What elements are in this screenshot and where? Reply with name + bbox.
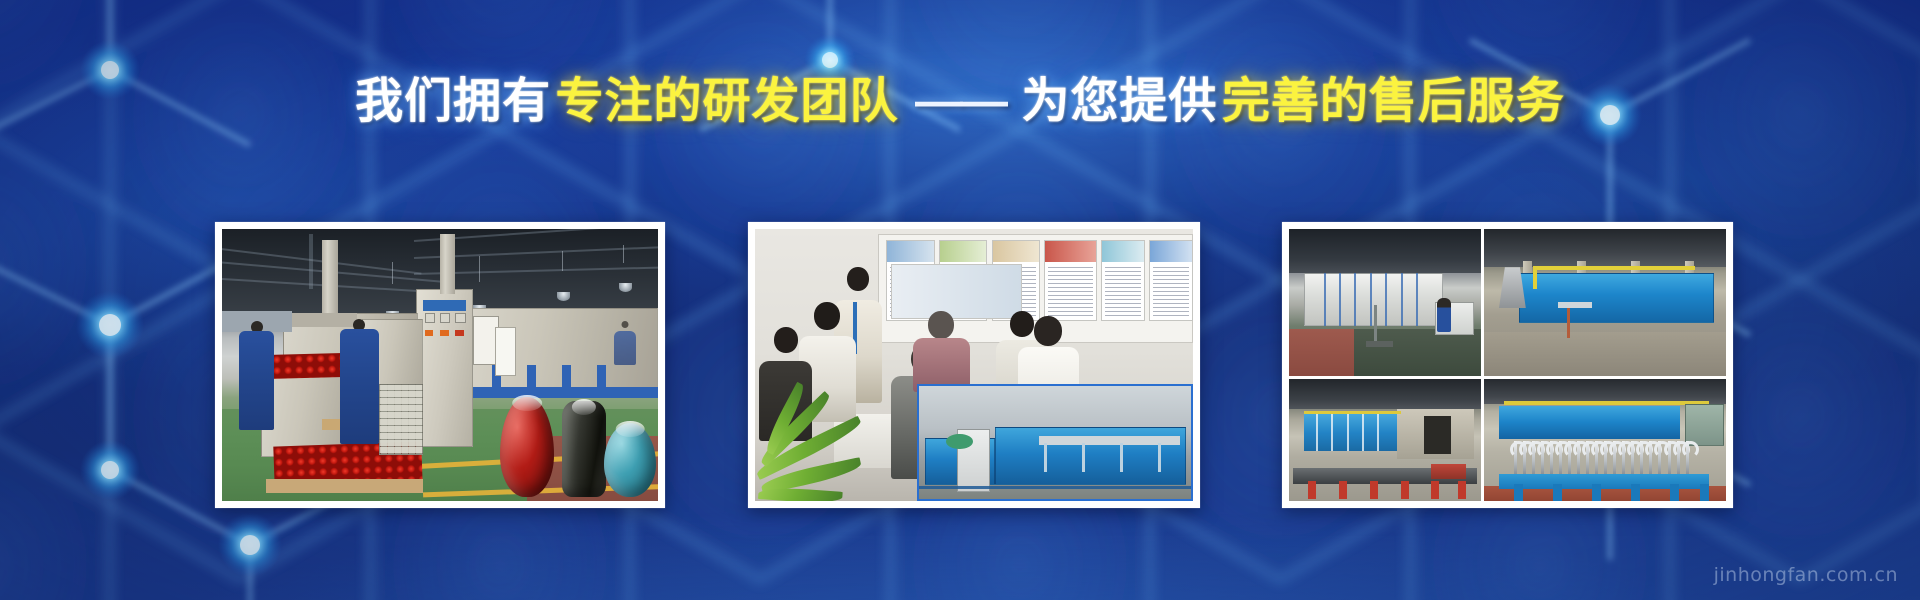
glass-vase-red — [500, 397, 554, 497]
photo-frame-production-line[interactable] — [215, 222, 665, 508]
headline-segment-4-highlight: 完善的售后服务 — [1222, 78, 1565, 126]
glass-vase-dark — [562, 401, 606, 497]
headline-dash-divider: —— — [903, 78, 1017, 126]
collage-cell-conveyor — [1289, 379, 1481, 501]
photo-team-meeting — [755, 229, 1193, 501]
headline-segment-3: 为您提供 — [1021, 78, 1217, 126]
collage-cell-hanging-rack — [1484, 379, 1726, 501]
palm-plant — [755, 387, 886, 501]
collage-cell-oven-line — [1289, 229, 1481, 376]
glass-vase-teal — [604, 423, 656, 497]
collage-cell-tunnel-furnace — [1484, 229, 1726, 376]
site-watermark: jinhongfan.com.cn — [1714, 564, 1898, 586]
hook-row — [1514, 441, 1695, 474]
headline-segment-1: 我们拥有 — [355, 78, 551, 126]
inset-photo-machinery — [917, 384, 1193, 501]
photo-gallery — [0, 222, 1920, 508]
headline-segment-2-highlight: 专注的研发团队 — [556, 78, 899, 126]
headline: 我们拥有 专注的研发团队 —— 为您提供 完善的售后服务 — [0, 78, 1920, 126]
photo-production-line — [222, 229, 658, 501]
photo-equipment-collage — [1289, 229, 1726, 501]
photo-frame-team-meeting[interactable] — [748, 222, 1200, 508]
hero-banner: 我们拥有 专注的研发团队 —— 为您提供 完善的售后服务 — [0, 0, 1920, 600]
photo-frame-equipment-collage[interactable] — [1282, 222, 1733, 508]
